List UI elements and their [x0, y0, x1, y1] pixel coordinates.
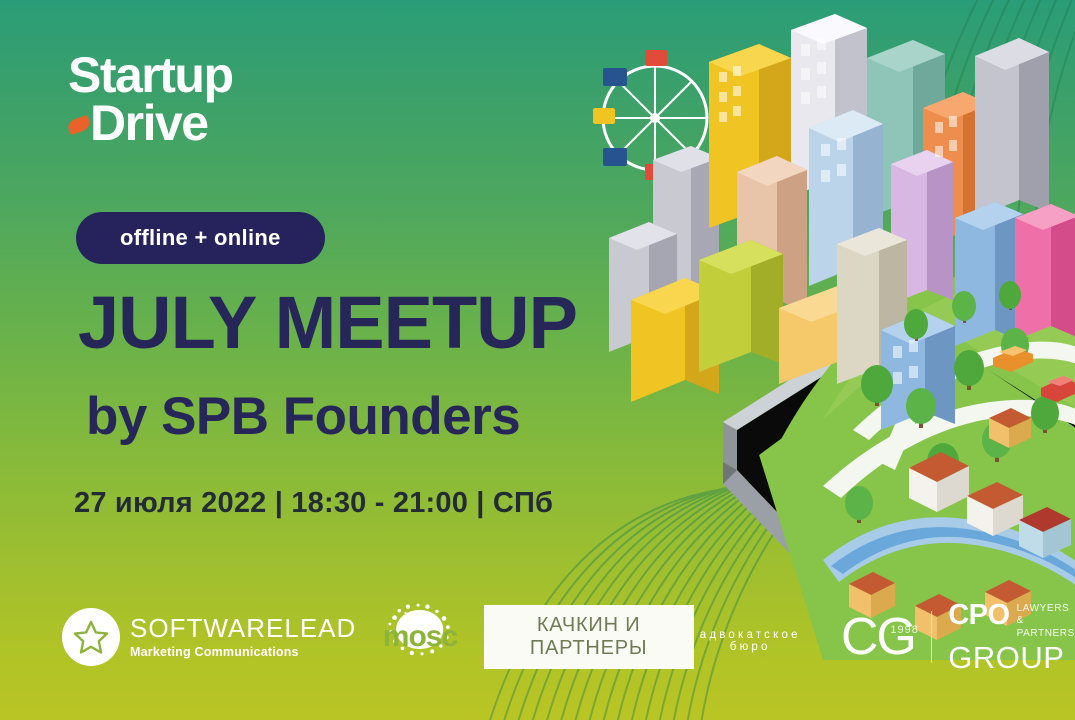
kachkin-name: КАЧКИН И ПАРТНЕРЫ	[484, 605, 694, 669]
event-subtitle: by SPB Founders	[78, 386, 577, 447]
headline-block: JULY MEETUP by SPB Founders	[78, 286, 577, 447]
cpo-name: CPO	[948, 601, 1009, 630]
softwarelead-name: SOFTWARELEAD	[130, 615, 356, 641]
cpo-tagline: LAWYERS & PARTNERS	[1017, 601, 1075, 641]
cg-monogram-wrapper: CG 1998	[841, 611, 915, 663]
brand-name-bottom: Drive	[90, 95, 208, 151]
brand-name-top: Startup	[68, 52, 328, 98]
building-windows	[719, 38, 957, 384]
cpo-tagline-line2: & PARTNERS	[1017, 615, 1075, 639]
sponsor-strip: SOFTWARELEAD Marketing Communications	[62, 600, 1075, 674]
startup-drive-logo: Startup Drive	[68, 52, 328, 146]
star-in-circle-icon	[62, 608, 120, 666]
cars	[993, 346, 1075, 402]
logo-divider	[931, 611, 932, 663]
cpo-logo: CPO LAWYERS & PARTNERS GROUP	[948, 601, 1075, 674]
sponsor-softwarelead: SOFTWARELEAD Marketing Communications	[62, 608, 356, 666]
cpo-top-row: CPO LAWYERS & PARTNERS	[948, 601, 1075, 641]
softwarelead-text: SOFTWARELEAD Marketing Communications	[130, 615, 356, 659]
skyscraper-cluster	[609, 14, 1075, 430]
event-promo-banner: Startup Drive offline + online JULY MEET…	[0, 0, 1075, 720]
trees	[845, 281, 1059, 523]
isometric-city-on-tablet-illustration	[523, 0, 1075, 660]
format-badge: offline + online	[76, 212, 325, 264]
city-roads	[823, 340, 1075, 498]
sponsor-mosc: mosc	[382, 602, 457, 672]
event-title: JULY MEETUP	[78, 286, 577, 360]
cpo-tagline-line1: LAWYERS	[1017, 603, 1070, 614]
cpo-group-word: GROUP	[948, 642, 1075, 673]
cg-monogram: CG	[841, 608, 915, 666]
ferris-wheel	[593, 50, 707, 180]
leaf-accent-icon	[66, 115, 91, 135]
sponsor-cg-cpo: CG 1998 CPO LAWYERS & PARTNERS GROUP	[841, 601, 1075, 674]
river	[823, 517, 1075, 590]
city-ground	[778, 273, 1075, 445]
softwarelead-tagline: Marketing Communications	[130, 645, 356, 659]
kachkin-subtitle: адвокатское бюро	[694, 629, 807, 653]
cg-year: 1998	[890, 625, 918, 636]
curved-line-texture-right	[715, 0, 1075, 420]
event-dateline: 27 июля 2022 | 18:30 - 21:00 | СПб	[74, 487, 553, 520]
starburst-shape	[1053, 250, 1075, 348]
brand-name-bottom-wrapper: Drive	[68, 100, 328, 146]
mosc-name: mosc	[383, 620, 457, 654]
sponsor-kachkin: КАЧКИН И ПАРТНЕРЫ адвокатское бюро	[484, 605, 807, 669]
